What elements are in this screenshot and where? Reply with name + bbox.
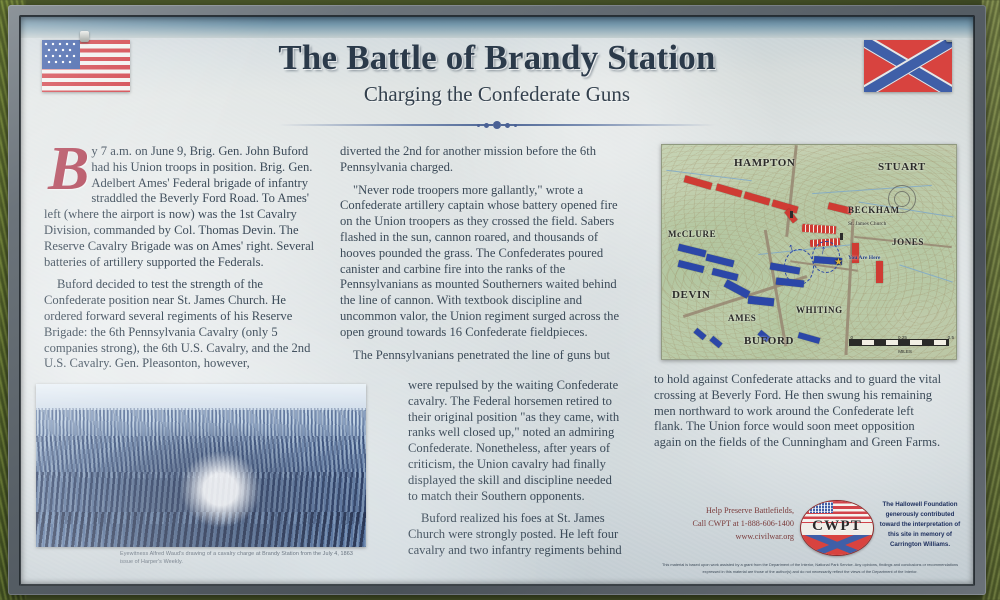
cwpt-contact-block: Help Preserve Battlefields, Call CWPT at… — [660, 504, 794, 543]
paragraph-text: Buford decided to test the strength of t… — [44, 277, 310, 370]
map-label-jones: JONES — [892, 237, 924, 247]
divider-dots — [20, 120, 974, 130]
nps-grant-disclaimer: This material is based upon work assiste… — [660, 562, 960, 575]
marker-body: By 7 a.m. on June 9, Brig. Gen. John Buf… — [20, 142, 974, 586]
map-unit-confederate — [876, 261, 883, 283]
map-scale-tick-quarter: 0.25 — [898, 335, 907, 340]
engraving-caption: Eyewitness Alfred Waud's drawing of a ca… — [120, 550, 366, 567]
map-label-whiting: WHITING — [796, 305, 843, 315]
text-column-3: to hold against Confederate attacks and … — [654, 372, 944, 458]
waud-cavalry-charge-engraving — [36, 384, 366, 547]
paragraph-text: to hold against Confederate attacks and … — [654, 372, 941, 449]
cwpt-line-2: Call CWPT at 1-888-606-1400 — [660, 517, 794, 530]
battle-map: ↑ ↑ ★ HAMPTON STUART McCLURE DEVIN J — [661, 144, 957, 360]
paragraph: Buford realized his foes at St. James Ch… — [408, 511, 622, 558]
paragraph-text: Buford realized his foes at St. James Ch… — [408, 511, 622, 557]
map-label-mcclure: McCLURE — [668, 229, 716, 239]
paragraph-text: "Never rode troopers more gallantly," wr… — [340, 183, 619, 339]
cwpt-logo-canton — [809, 502, 833, 513]
text-column-2: diverted the 2nd for another mission bef… — [340, 144, 622, 370]
paragraph: Buford decided to test the strength of t… — [44, 277, 322, 372]
map-label-st-james-church: St. James Church — [848, 221, 886, 227]
cwpt-line-1: Help Preserve Battlefields, — [660, 504, 794, 517]
cwpt-logo: CWPT — [800, 500, 874, 556]
text-column-1: By 7 a.m. on June 9, Brig. Gen. John Buf… — [44, 144, 322, 379]
map-scale-tick-half: 0.5 — [948, 335, 954, 340]
paragraph-text: were repulsed by the waiting Confederate… — [408, 378, 619, 503]
text-column-2-continued: were repulsed by the waiting Confederate… — [408, 378, 622, 566]
map-label-ames: AMES — [728, 313, 756, 323]
paragraph-text: The Pennsylvanians penetrated the line o… — [353, 348, 610, 362]
cwpt-website-link[interactable]: www.civilwar.org — [660, 530, 794, 543]
map-label-you-are-here: You Are Here — [848, 255, 880, 261]
paragraph: The Pennsylvanians penetrated the line o… — [340, 348, 622, 364]
paragraph: diverted the 2nd for another mission bef… — [340, 144, 622, 176]
hallowell-foundation-credit: The Hallowell Foundation generously cont… — [878, 500, 962, 550]
map-church-icon — [840, 233, 843, 240]
decorative-divider — [20, 120, 974, 130]
engraving-smoke — [181, 452, 260, 527]
map-star-marker: ★ — [834, 257, 843, 268]
sponsor-strip: Help Preserve Battlefields, Call CWPT at… — [660, 500, 960, 562]
outdoor-scene: The Battle of Brandy Station Charging th… — [0, 0, 1000, 600]
page-title: The Battle of Brandy Station — [20, 38, 974, 78]
map-label-devin: DEVIN — [672, 289, 710, 301]
paragraph-text: diverted the 2nd for another mission bef… — [340, 144, 596, 174]
map-movement-dashes — [784, 249, 814, 285]
map-scale-unit: MILES — [898, 349, 912, 354]
map-contour-lines — [662, 145, 956, 359]
map-label-buford: BUFORD — [744, 335, 794, 347]
map-label-hampton: HAMPTON — [734, 157, 795, 169]
paragraph: were repulsed by the waiting Confederate… — [408, 378, 622, 504]
interpretive-marker-panel: The Battle of Brandy Station Charging th… — [20, 16, 974, 586]
engraving-sky — [36, 384, 366, 410]
marker-metal-frame: The Battle of Brandy Station Charging th… — [8, 5, 986, 595]
paragraph: to hold against Confederate attacks and … — [654, 372, 944, 451]
cwpt-logo-confederate-flag — [801, 535, 873, 555]
map-building-icon — [790, 211, 793, 218]
page-subtitle: Charging the Confederate Guns — [20, 82, 974, 107]
paragraph: "Never rode troopers more gallantly," wr… — [340, 183, 622, 341]
marker-header: The Battle of Brandy Station Charging th… — [20, 16, 974, 142]
map-scale-bar — [849, 339, 949, 346]
paragraph: By 7 a.m. on June 9, Brig. Gen. John Buf… — [44, 144, 322, 270]
drop-cap: B — [48, 146, 89, 193]
map-label-stuart: STUART — [878, 161, 926, 173]
cwpt-logo-wordmark: CWPT — [801, 518, 873, 535]
map-label-beckham: BECKHAM — [848, 205, 900, 215]
map-scale-tick-0: 0 — [850, 335, 853, 340]
